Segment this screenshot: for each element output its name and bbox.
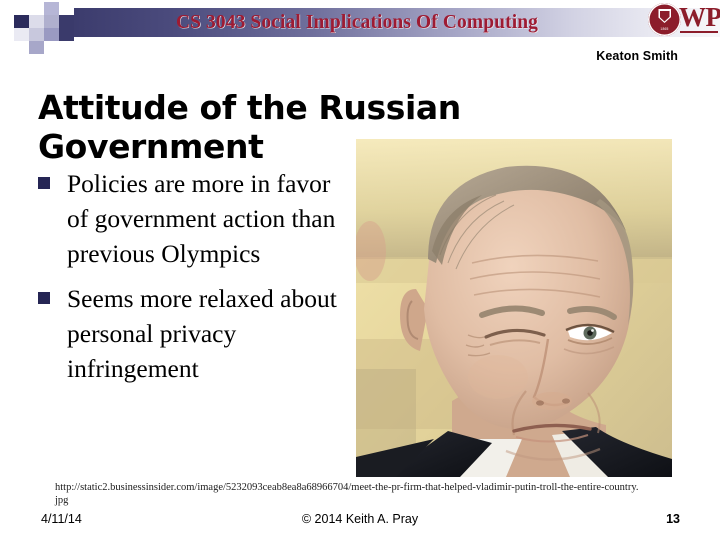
decorative-square [44, 28, 59, 41]
course-title: CS 3043 Social Implications Of Computing [62, 8, 652, 37]
author-name: Keaton Smith [596, 49, 678, 63]
bullet-item: Policies are more in favor of government… [36, 166, 348, 271]
decorative-square [29, 41, 44, 54]
wpi-seal-year: 1865 [652, 27, 678, 32]
footer-copyright: © 2014 Keith A. Pray [0, 512, 720, 526]
slide-header: CS 3043 Social Implications Of Computing… [0, 0, 720, 44]
wpi-seal-icon: 1865 [648, 3, 681, 36]
decorative-square [14, 15, 29, 28]
slide-canvas: CS 3043 Social Implications Of Computing… [0, 0, 720, 540]
decorative-square [44, 15, 59, 28]
decorative-square [14, 28, 29, 41]
wpi-logo: 1865 WPI [646, 1, 720, 39]
footer-page-number: 13 [666, 512, 680, 526]
photo-graphic [356, 139, 672, 477]
decorative-square [59, 15, 74, 28]
decorative-square [29, 15, 44, 28]
decorative-square [44, 2, 59, 15]
bullet-item: Seems more relaxed about personal privac… [36, 281, 348, 386]
square-bullet-icon [38, 177, 50, 189]
source-url-citation: http://static2.businessinsider.com/image… [55, 482, 640, 507]
slide-footer: 4/11/14 © 2014 Keith A. Pray 13 [0, 512, 720, 532]
decorative-square [59, 2, 74, 15]
bullet-text: Seems more relaxed about personal privac… [67, 284, 337, 383]
square-bullet-icon [38, 292, 50, 304]
putin-photo [356, 139, 672, 477]
decorative-square [29, 2, 44, 15]
decorative-square [59, 28, 74, 41]
bullet-text: Policies are more in favor of government… [67, 169, 335, 268]
decorative-square [14, 2, 29, 15]
wpi-underline [680, 31, 718, 33]
bullet-list: Policies are more in favor of government… [36, 166, 348, 396]
wpi-wordmark: WPI [679, 3, 720, 31]
shield-inner-icon [660, 11, 670, 22]
decorative-square [29, 28, 44, 41]
